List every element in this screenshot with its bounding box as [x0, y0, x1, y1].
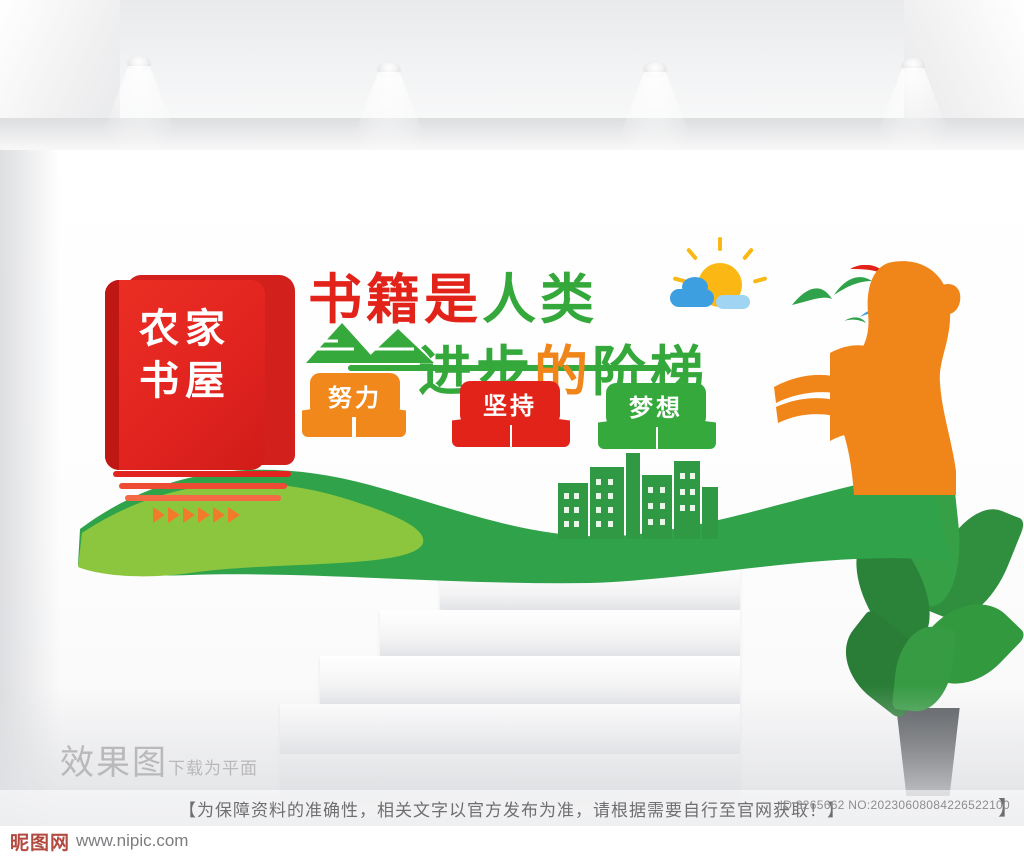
headline-seg: 人类 [482, 270, 598, 330]
wall-mural-artwork: 农家书屋 书籍是人类 进步的阶梯 [70, 245, 960, 585]
city-skyline-icon [558, 453, 718, 539]
brand-url: www.nipic.com [76, 831, 188, 851]
reader-silhouette-icon [770, 255, 970, 505]
book-spine [105, 280, 119, 470]
badge-dream: 梦想 [606, 383, 706, 427]
effect-label-sub: 下载为平面 [168, 759, 258, 778]
footer-bar: 昵图网 www.nipic.com [0, 826, 1024, 856]
asset-id-text: ID:3265662 NO:20230608084226522100 [780, 798, 1010, 812]
book-pages-1 [113, 471, 291, 477]
book-graphic: 农家书屋 [105, 275, 295, 495]
headline-seg: 书籍是 [308, 270, 482, 330]
brand-name: 昵图网 [10, 828, 70, 855]
effect-label-main: 效果图 [60, 744, 168, 782]
arrow-strip-icon [153, 507, 240, 523]
book-title: 农家书屋 [123, 303, 247, 407]
badge-effort: 努力 [310, 373, 400, 417]
headline-line-1: 书籍是人类 [308, 255, 598, 334]
badge-persist: 坚持 [460, 381, 560, 425]
effect-label: 效果图下载为平面 [60, 735, 258, 784]
screenshot-stage: 农家书屋 书籍是人类 进步的阶梯 [0, 0, 1024, 856]
book-pages-3 [125, 495, 281, 501]
book-pages-2 [119, 483, 287, 489]
